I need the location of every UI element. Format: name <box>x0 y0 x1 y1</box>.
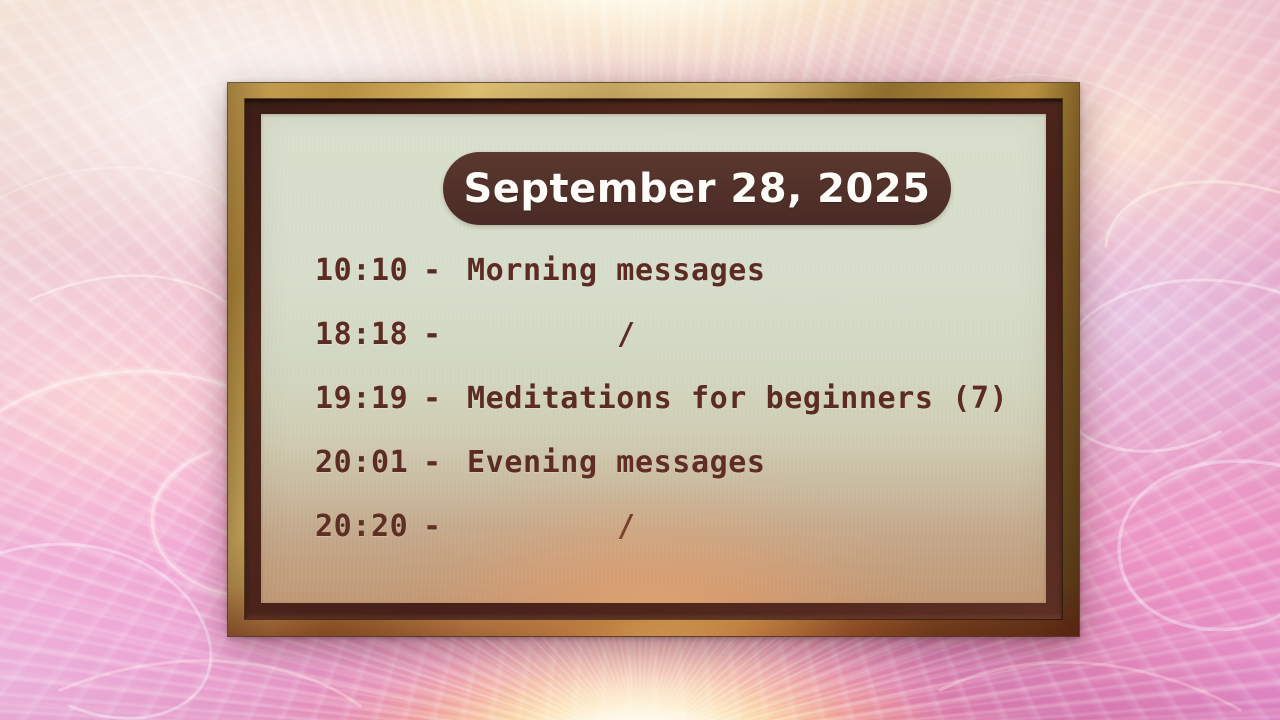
board-content: September 28, 2025 10:10 - Morning messa… <box>261 114 1046 603</box>
picture-frame: September 28, 2025 10:10 - Morning messa… <box>228 83 1079 636</box>
slide-stage: September 28, 2025 10:10 - Morning messa… <box>0 0 1280 720</box>
schedule-dash: - <box>423 317 467 352</box>
schedule-row: 20:01 - Evening messages <box>315 445 1018 509</box>
schedule-time: 10:10 <box>315 253 423 288</box>
schedule-list: 10:10 - Morning messages 18:18 - / 19:19… <box>307 253 1018 573</box>
schedule-board: September 28, 2025 10:10 - Morning messa… <box>261 114 1046 603</box>
date-badge: September 28, 2025 <box>443 152 951 225</box>
schedule-dash: - <box>423 253 467 288</box>
schedule-dash: - <box>423 509 467 544</box>
schedule-time: 20:20 <box>315 509 423 544</box>
schedule-row: 10:10 - Morning messages <box>315 253 1018 317</box>
schedule-title: Morning messages <box>467 253 1018 288</box>
date-badge-label: September 28, 2025 <box>463 169 930 209</box>
schedule-row: 18:18 - / <box>315 317 1018 381</box>
schedule-dash: - <box>423 381 467 416</box>
schedule-row: 20:20 - / <box>315 509 1018 573</box>
schedule-title: Meditations for beginners (7) <box>467 381 1018 416</box>
schedule-title: / <box>467 509 1018 544</box>
schedule-time: 20:01 <box>315 445 423 480</box>
schedule-time: 19:19 <box>315 381 423 416</box>
schedule-title: Evening messages <box>467 445 1018 480</box>
schedule-dash: - <box>423 445 467 480</box>
schedule-row: 19:19 - Meditations for beginners (7) <box>315 381 1018 445</box>
schedule-time: 18:18 <box>315 317 423 352</box>
schedule-title: / <box>467 317 1018 352</box>
